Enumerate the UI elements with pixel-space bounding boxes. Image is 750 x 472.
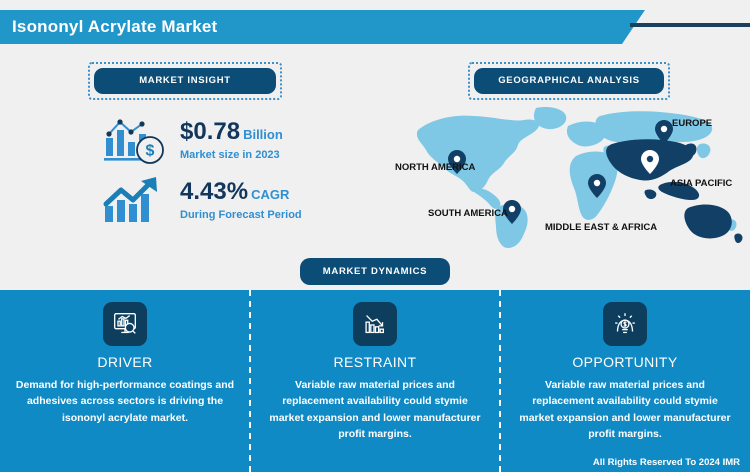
stat-market-size-text: $0.78Billion Market size in 2023: [180, 119, 283, 160]
map-label-europe: EUROPE: [672, 118, 712, 129]
bar-chart-dollar-icon: $: [100, 112, 174, 168]
stat-market-size-caption: Market size in 2023: [180, 149, 283, 161]
market-insight-label: MARKET INSIGHT: [94, 68, 276, 94]
panel-driver: DRIVER Demand for high-performance coati…: [0, 290, 250, 472]
panel-restraint-text: Variable raw material prices and replace…: [264, 377, 486, 442]
geographical-analysis-section-frame: GEOGRAPHICAL ANALYSIS: [468, 62, 670, 100]
stat-cagr-unit: CAGR: [251, 187, 289, 202]
header-band: Isononyl Acrylate Market: [0, 10, 750, 44]
market-insight-section-frame: MARKET INSIGHT: [88, 62, 282, 100]
stat-market-size-value-row: $0.78Billion: [180, 119, 283, 144]
panel-restraint-title: RESTRAINT: [250, 354, 500, 370]
panel-opportunity-text: Variable raw material prices and replace…: [514, 377, 736, 442]
copyright-text: All Rights Reserved To 2024 IMR: [593, 457, 740, 468]
declining-bar-chart-icon: [353, 302, 397, 346]
header-rule: [630, 23, 750, 27]
geographical-analysis-label: GEOGRAPHICAL ANALYSIS: [474, 68, 664, 94]
map-label-asia-pacific: ASIA PACIFIC: [670, 178, 732, 189]
stat-cagr-caption: During Forecast Period: [180, 209, 302, 221]
panel-driver-text: Demand for high-performance coatings and…: [14, 377, 236, 426]
market-dynamics-section: DRIVER Demand for high-performance coati…: [0, 290, 750, 472]
stat-market-size-unit: Billion: [243, 127, 283, 142]
map-label-south-america: SOUTH AMERICA: [428, 208, 508, 219]
growth-arrow-icon: [100, 172, 174, 228]
panel-opportunity-title: OPPORTUNITY: [500, 354, 750, 370]
panel-restraint: RESTRAINT Variable raw material prices a…: [250, 290, 500, 472]
map-label-north-america: NORTH AMERICA: [395, 162, 475, 173]
page-title: Isononyl Acrylate Market: [12, 17, 217, 37]
dashboard-analysis-icon: [103, 302, 147, 346]
stat-cagr-text: 4.43%CAGR During Forecast Period: [180, 179, 302, 220]
panel-opportunity: OPPORTUNITY Variable raw material prices…: [500, 290, 750, 472]
stat-cagr-value-row: 4.43%CAGR: [180, 179, 302, 204]
stat-cagr: 4.43%CAGR During Forecast Period: [100, 172, 302, 228]
lightbulb-dollar-icon: [603, 302, 647, 346]
map-label-middle-east-africa: MIDDLE EAST & AFRICA: [545, 222, 657, 233]
stat-market-size: $ $0.78Billion Market size in 2023: [100, 112, 283, 168]
infographic-page: Isononyl Acrylate Market MARKET INSIGHT …: [0, 0, 750, 472]
panel-driver-title: DRIVER: [0, 354, 250, 370]
stat-market-size-value: $0.78: [180, 118, 240, 145]
stat-cagr-value: 4.43%: [180, 178, 248, 205]
svg-text:$: $: [146, 143, 155, 160]
market-dynamics-label: MARKET DYNAMICS: [300, 258, 450, 285]
